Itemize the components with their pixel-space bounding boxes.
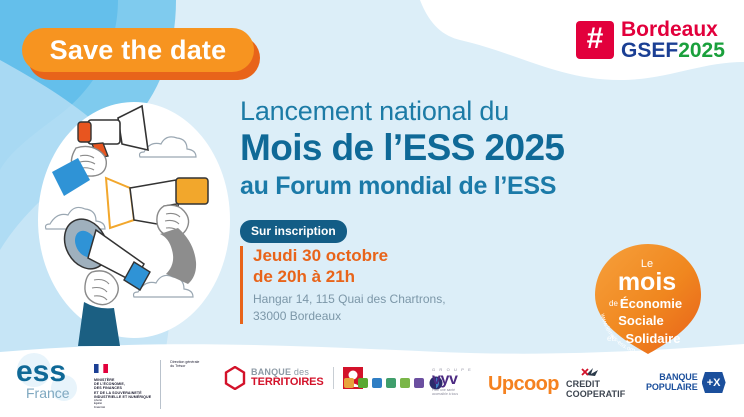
cc-line2: COOPERATIF	[566, 390, 625, 400]
partner-icon-6	[414, 378, 424, 388]
save-the-date-label: Save the date	[50, 35, 227, 66]
page-title: Mois de l’ESS 2025	[240, 128, 660, 169]
registration-badge: Sur inscription	[240, 220, 347, 243]
ministry-line-4: INDUSTRIELLE ET NUMÉRIQUE	[94, 395, 151, 399]
event-date-line1: Jeudi 30 octobre	[253, 246, 490, 267]
upcoop-wordmark: Upcoop	[488, 373, 559, 395]
mois-ess-pin-logo: Le mois de l’ Économie Sociale et Solida…	[589, 240, 707, 358]
gsef-bordeaux-text: Bordeaux	[621, 19, 725, 40]
save-the-date-badge: Save the date	[22, 28, 254, 72]
republic-motto: Liberté Égalité Fraternité	[94, 399, 151, 409]
bdt-wordmark: BANQUE des TERRITOIRES	[251, 368, 324, 388]
pin-line4: Sociale	[618, 313, 664, 328]
logo-mutual-partners	[344, 376, 444, 390]
logo-banque-populaire: BANQUE POPULAIRE +X	[646, 372, 726, 393]
bdt-line2: TERRITOIRES	[251, 377, 324, 388]
motto-fraternite: Fraternité	[94, 406, 151, 409]
bp-plus-x-icon: +X	[702, 372, 726, 393]
logo-ministere-economie: MINISTÈRE DE L’ÉCONOMIE, DES FINANCES ET…	[94, 360, 199, 409]
vyv-tagline: Pour une santé accessible à tous	[432, 388, 472, 397]
logo-upcoop: Upcoop	[488, 373, 559, 396]
ess-wordmark: ess	[16, 355, 66, 388]
ministry-name: MINISTÈRE DE L’ÉCONOMIE, DES FINANCES ET…	[94, 378, 151, 399]
vyv-wordmark: vyv	[432, 372, 472, 388]
logo-divider	[333, 367, 334, 389]
event-date-line2: de 20h à 21h	[253, 267, 490, 288]
save-the-date-poster: Save the date # Bordeaux GSEF2025	[0, 0, 744, 417]
gsef-acronym: GSEF	[621, 39, 678, 62]
bordeaux-gsef-logo: # Bordeaux GSEF2025	[576, 19, 725, 62]
cc-wordmark: CREDIT COOPERATIF	[566, 380, 625, 399]
event-venue: Hangar 14, 115 Quai des Chartrons, 33000…	[253, 291, 490, 323]
megaphones-illustration	[26, 96, 241, 346]
headline-block: Lancement national du Mois de l’ESS 2025…	[240, 96, 660, 201]
logo-divider	[160, 360, 161, 409]
dgt-line-1: du Trésor	[170, 364, 199, 368]
logo-groupe-vyv: G R O U P E vyv Pour une santé accessibl…	[432, 368, 472, 397]
pin-line5: Solidaire	[626, 331, 681, 346]
gsef-year: 2025	[678, 39, 725, 62]
bird-icon	[580, 366, 606, 380]
vyv-tagline-line2: accessible à tous	[432, 392, 472, 396]
title-kicker: Lancement national du	[240, 96, 660, 126]
title-subtitle: au Forum mondial de l’ESS	[240, 172, 660, 201]
french-flag-icon	[94, 364, 108, 373]
event-details: Jeudi 30 octobre de 20h à 21h Hangar 14,…	[240, 246, 490, 324]
registration-label: Sur inscription	[251, 224, 336, 238]
logo-credit-cooperatif: CREDIT COOPERATIF	[566, 366, 625, 399]
hashtag-icon: #	[576, 21, 614, 59]
pin-line2: mois	[618, 268, 676, 296]
hexagon-icon	[224, 366, 246, 390]
logo-banque-des-territoires: BANQUE des TERRITOIRES	[224, 366, 363, 390]
partner-icon-1	[344, 378, 354, 388]
venue-address-line1: Hangar 14, 115 Quai des Chartrons,	[253, 291, 490, 307]
partner-icon-2	[358, 378, 368, 388]
gsef-wordmark: Bordeaux GSEF2025	[621, 19, 725, 62]
gsef-year-text: GSEF2025	[621, 40, 725, 61]
bp-line2: POPULAIRE	[646, 383, 698, 392]
partner-icon-4	[386, 378, 396, 388]
france-wordmark: France	[26, 385, 70, 401]
bp-wordmark: BANQUE POPULAIRE	[646, 373, 698, 392]
direction-generale-tresor: Direction générale du Trésor	[170, 360, 199, 369]
hashtag-glyph: #	[587, 24, 604, 54]
pin-line3: Économie	[620, 296, 682, 311]
logo-ess-france: ess France	[12, 348, 92, 404]
partner-icon-3	[372, 378, 382, 388]
bp-mark-label: +X	[707, 377, 721, 389]
save-the-date-pill: Save the date	[22, 28, 254, 72]
event-date: Jeudi 30 octobre de 20h à 21h	[253, 246, 490, 287]
partner-icon-5	[400, 378, 410, 388]
venue-address-line2: 33000 Bordeaux	[253, 308, 490, 324]
